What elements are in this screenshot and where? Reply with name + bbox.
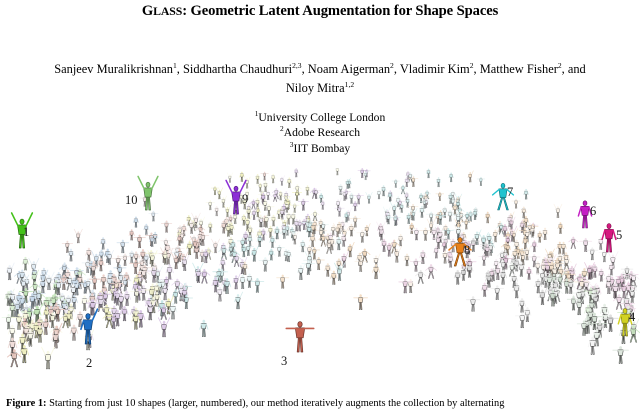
figure-caption: Figure 1: Starting from just 10 shapes (… [6,398,634,413]
author-name: Noam Aigerman [308,62,390,76]
author-name: Siddhartha Chaudhuri [183,62,292,76]
author-affiliation-marker: 2 [558,61,562,70]
title-smallcaps: LASS [153,4,182,18]
seed-shape-label-4: 4 [629,311,635,324]
caption-text: Starting from just 10 shapes (larger, nu… [49,398,504,409]
title-rest: : Geometric Latent Augmentation for Shap… [182,3,498,19]
figure-1: 12345678910 [0,168,640,396]
author-name: Sanjeev Muralikrishnan [54,62,173,76]
affiliation-name: University College London [258,111,385,124]
caption-label: Figure 1: [6,398,47,409]
author-name: Niloy Mitra [286,81,345,95]
affiliation-name: IIT Bombay [293,142,350,155]
seed-shape-label-2: 2 [86,357,92,370]
seed-shape-label-5: 5 [616,229,622,242]
affiliation-item: 1University College London [0,110,640,125]
shape-collection-visualization [0,168,640,396]
author-list: Sanjeev Muralikrishnan1, Siddhartha Chau… [48,60,592,98]
seed-shape-label-1: 1 [23,226,29,239]
author-name: Vladimir Kim [400,62,470,76]
author-affiliation-marker: 2,3 [292,61,302,70]
author-affiliation-marker: 2 [470,61,474,70]
affiliation-list: 1University College London2Adobe Researc… [0,110,640,156]
seed-shape-label-3: 3 [281,355,287,368]
seed-shape-label-8: 8 [464,244,470,257]
author-affiliation-marker: 2 [390,61,394,70]
affiliation-item: 3IIT Bombay [0,141,640,156]
author-name: Matthew Fisher [480,62,558,76]
seed-shape-label-9: 9 [242,193,248,206]
affiliation-item: 2Adobe Research [0,125,640,140]
page-title: GLASS: Geometric Latent Augmentation for… [0,2,640,20]
author-affiliation-marker: 1,2 [345,80,355,89]
title-lead-letter: G [142,3,153,19]
paper-page: GLASS: Geometric Latent Augmentation for… [0,0,640,413]
affiliation-name: Adobe Research [284,126,360,139]
seed-shape-label-6: 6 [590,205,596,218]
seed-shape-label-10: 10 [125,194,138,207]
seed-shape-label-7: 7 [507,186,513,199]
author-affiliation-marker: 1 [173,61,177,70]
